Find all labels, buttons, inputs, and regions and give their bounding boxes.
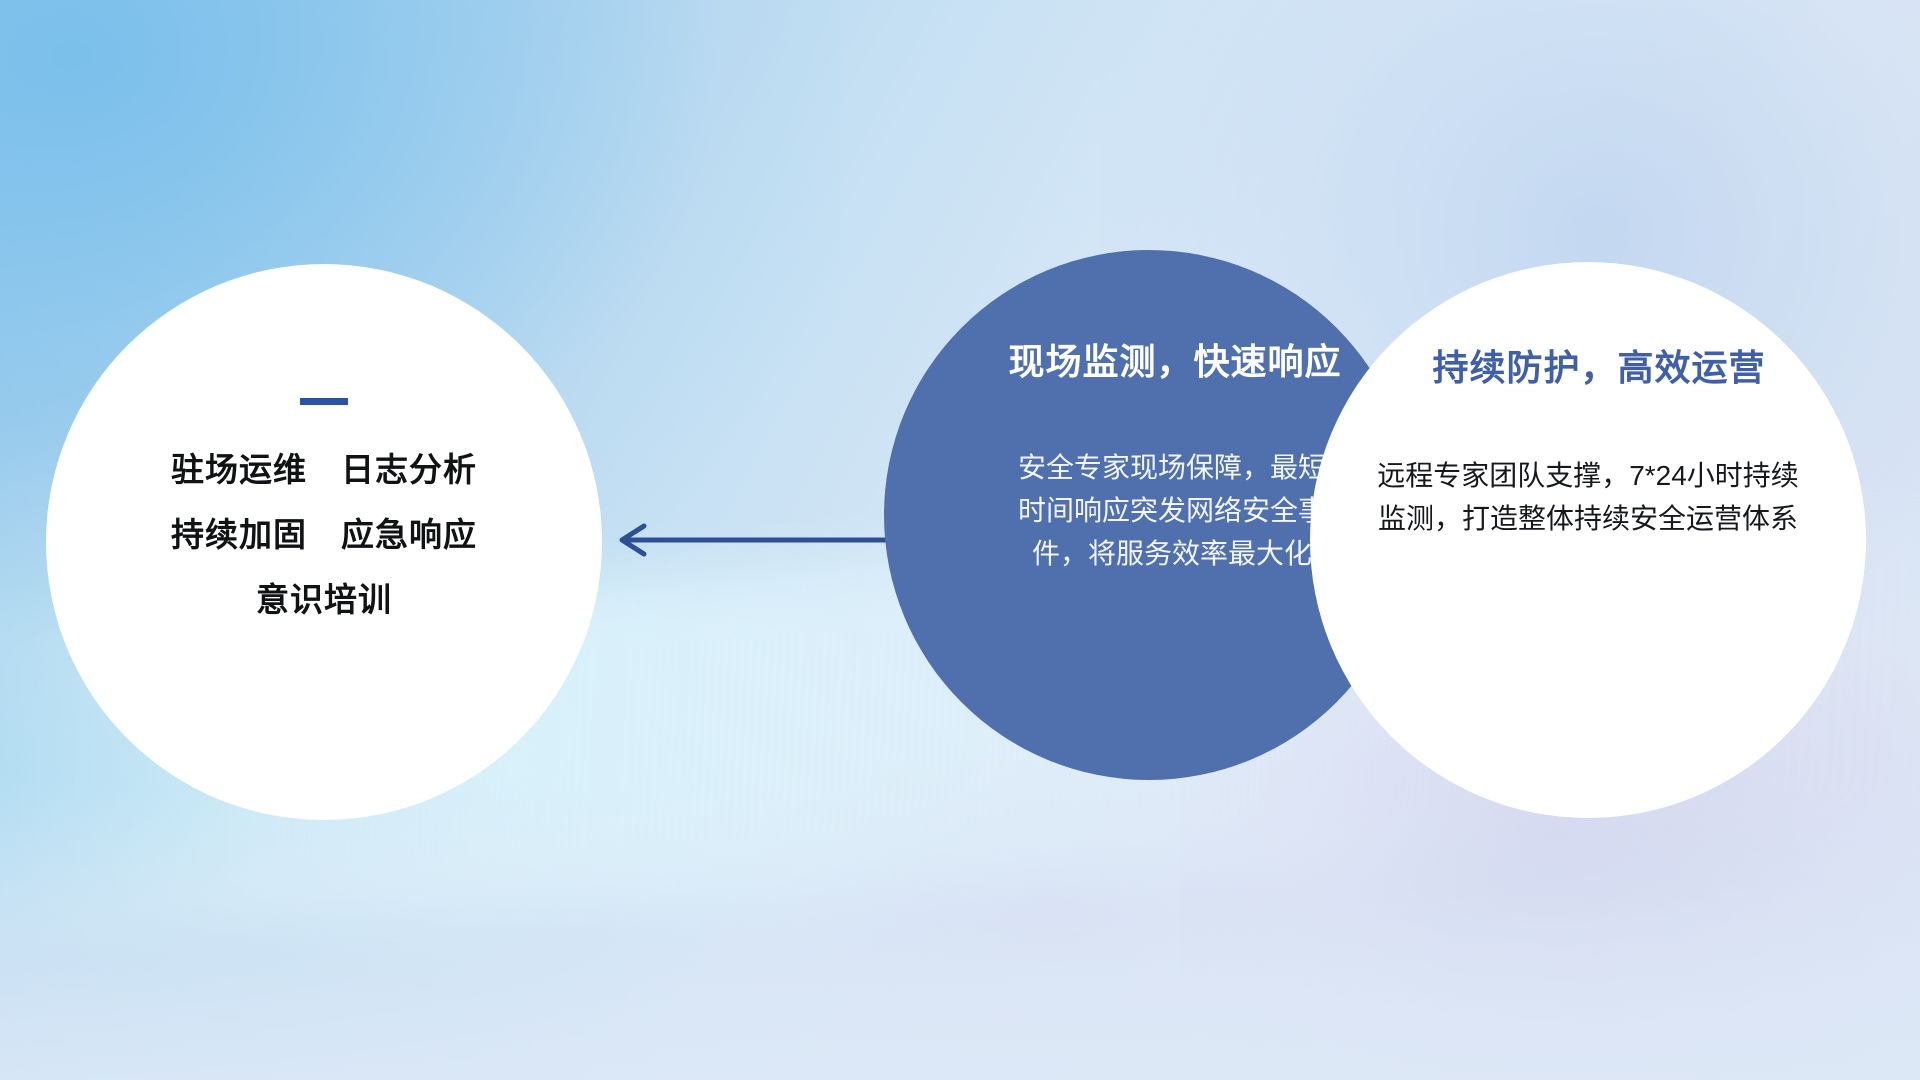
right-card-body: 远程专家团队支撑，7*24小时持续监测，打造整体持续安全运营体系 [1369,454,1807,541]
capability-tag[interactable]: 意识培训 [256,583,392,616]
capability-tag-list: 驻场运维 日志分析 持续加固 应急响应 意识培训 [171,453,477,616]
right-card-title: 持续防护，高效运营 [1432,348,1765,388]
capability-tag[interactable]: 应急响应 [341,518,477,551]
tag-row: 持续加固 应急响应 [171,518,477,551]
tag-row: 驻场运维 日志分析 [171,453,477,486]
middle-card-body: 安全专家现场保障，最短时间响应突发网络安全事件，将服务效率最大化 [1007,446,1337,576]
right-card-content: 持续防护，高效运营 远程专家团队支撑，7*24小时持续监测，打造整体持续安全运营… [1310,262,1866,818]
continuous-protection-card[interactable]: 持续防护，高效运营 远程专家团队支撑，7*24小时持续监测，打造整体持续安全运营… [1310,262,1866,818]
left-card-content: 驻场运维 日志分析 持续加固 应急响应 意识培训 [46,264,602,820]
service-capabilities-card[interactable]: 驻场运维 日志分析 持续加固 应急响应 意识培训 [46,264,602,820]
arrow-left-icon [600,520,900,560]
capability-tag[interactable]: 驻场运维 [171,453,307,486]
connector-arrow [600,520,900,560]
tag-row: 意识培训 [256,583,392,616]
background-bottom-fade [0,780,1920,1080]
slide-canvas: 驻场运维 日志分析 持续加固 应急响应 意识培训 现场监测，快速响应 安全专家现… [0,0,1920,1080]
capability-tag[interactable]: 持续加固 [171,518,307,551]
title-divider [300,398,348,405]
middle-card-title: 现场监测，快速响应 [1008,342,1341,382]
capability-tag[interactable]: 日志分析 [341,453,477,486]
